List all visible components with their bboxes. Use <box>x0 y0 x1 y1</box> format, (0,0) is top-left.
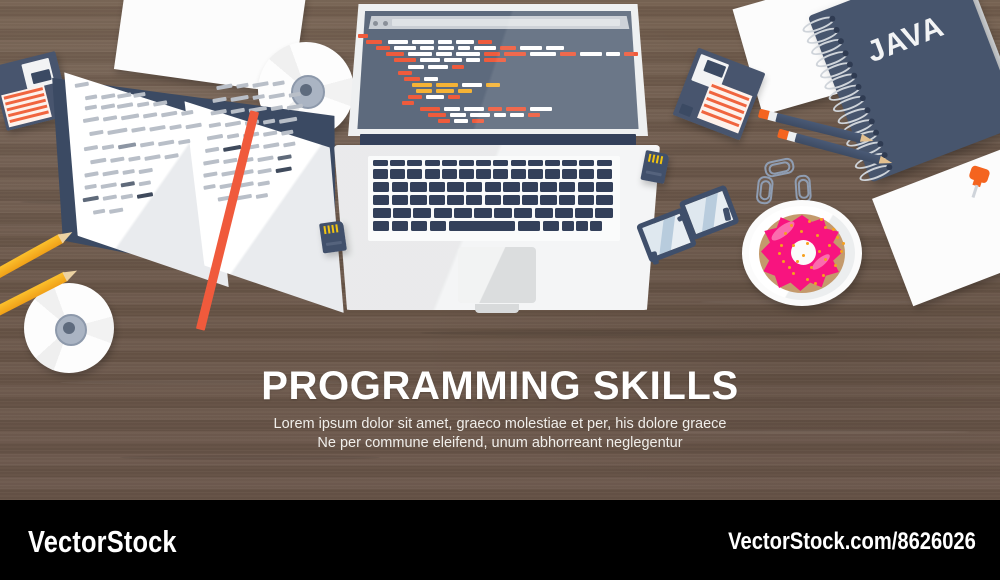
keyboard-key[interactable] <box>392 221 408 231</box>
code-token <box>444 58 462 62</box>
code-token <box>458 46 470 50</box>
donut-sprinkle <box>796 260 799 263</box>
keyboard-key[interactable] <box>447 195 463 205</box>
keyboard-key[interactable] <box>466 182 482 192</box>
paperclip-2 <box>756 175 770 200</box>
code-token <box>624 52 638 56</box>
donut-sprinkle <box>808 220 811 223</box>
page-title: PROGRAMMING SKILLS <box>0 364 1000 409</box>
code-token <box>488 107 502 111</box>
keyboard-key[interactable] <box>562 160 577 166</box>
keyboard-key[interactable] <box>392 195 408 205</box>
code-token <box>420 107 440 111</box>
code-token <box>500 46 516 50</box>
keyboard-key[interactable] <box>559 182 575 192</box>
code-token <box>412 40 434 44</box>
keyboard-key[interactable] <box>511 160 526 166</box>
book-text-line <box>205 147 219 153</box>
code-token <box>388 40 408 44</box>
code-token <box>454 119 468 123</box>
keyboard-key[interactable] <box>562 221 574 231</box>
keyboard-key[interactable] <box>476 160 491 166</box>
code-token <box>520 46 542 50</box>
book-text-line <box>203 184 216 190</box>
code-token <box>494 113 506 117</box>
keyboard-key[interactable] <box>459 169 474 179</box>
keyboard-key[interactable] <box>429 182 445 192</box>
keyboard-key[interactable] <box>447 182 463 192</box>
donut-sprinkle <box>792 272 795 275</box>
donut-sprinkle <box>806 278 809 281</box>
keyboard-key[interactable] <box>485 182 501 192</box>
book-text-line <box>216 83 232 90</box>
keyboard-key[interactable] <box>518 221 540 231</box>
keyboard-key[interactable] <box>392 182 408 192</box>
code-token <box>462 83 482 87</box>
keyboard-key[interactable] <box>503 182 519 192</box>
code-token <box>358 34 368 38</box>
code-token <box>438 119 450 123</box>
keyboard-key[interactable] <box>596 195 612 205</box>
keyboard-key[interactable] <box>449 221 515 231</box>
donut-sprinkle <box>836 236 839 239</box>
keyboard-key[interactable] <box>442 169 457 179</box>
code-token <box>408 95 422 99</box>
book-text-line <box>289 92 302 98</box>
code-token <box>444 107 460 111</box>
keyboard-key[interactable] <box>503 195 519 205</box>
code-token <box>386 52 404 56</box>
donut-sprinkle <box>806 242 809 245</box>
poster-canvas: JAVA <box>0 0 1000 580</box>
code-token <box>470 113 490 117</box>
keyboard-key[interactable] <box>493 169 508 179</box>
code-token <box>478 40 492 44</box>
keyboard-key[interactable] <box>410 182 426 192</box>
code-token <box>436 83 458 87</box>
keyboard-key[interactable] <box>413 208 431 218</box>
laptop-keyboard[interactable] <box>368 156 620 241</box>
laptop-trackpad[interactable] <box>458 247 536 303</box>
code-token <box>408 65 424 69</box>
code-token <box>484 58 506 62</box>
code-token <box>450 113 466 117</box>
keyboard-key[interactable] <box>522 182 538 192</box>
donut-sprinkle <box>832 228 835 231</box>
vectorstock-url[interactable]: VectorStock.com/8626026 <box>728 528 976 556</box>
subtitle-line-2: Ne per commune eleifend, unum abhorreant… <box>0 434 1000 453</box>
donut-sprinkle <box>840 250 843 253</box>
code-token <box>416 89 432 93</box>
code-token <box>456 52 480 56</box>
keyboard-key[interactable] <box>373 208 391 218</box>
keyboard-key[interactable] <box>411 221 427 231</box>
sd-card-left <box>319 220 347 253</box>
keyboard-key[interactable] <box>425 169 440 179</box>
keyboard-key[interactable] <box>545 169 560 179</box>
code-token <box>420 58 440 62</box>
donut-sprinkle <box>824 226 827 229</box>
donut-sprinkle <box>782 260 785 263</box>
keyboard-key[interactable] <box>535 208 553 218</box>
code-token <box>580 52 602 56</box>
code-token <box>438 46 454 50</box>
page-subtitle: Lorem ipsum dolor sit amet, graeco moles… <box>0 415 1000 453</box>
code-token <box>394 58 416 62</box>
code-token <box>546 46 564 50</box>
code-token <box>530 52 556 56</box>
code-token <box>458 89 472 93</box>
keyboard-key[interactable] <box>373 221 389 231</box>
donut-sprinkle <box>790 224 793 227</box>
book-text-line <box>203 171 217 177</box>
donut-sprinkle <box>818 250 821 253</box>
footer-bar: VectorStock VectorStock.com/8626026 <box>0 500 1000 580</box>
editor-address-bar[interactable] <box>392 19 620 26</box>
keyboard-key[interactable] <box>466 195 482 205</box>
keyboard-key[interactable] <box>476 169 491 179</box>
donut-sprinkles <box>742 200 862 306</box>
donut-sprinkle <box>784 232 787 235</box>
code-token <box>412 83 432 87</box>
keyboard-key[interactable] <box>373 169 388 179</box>
keyboard-key[interactable] <box>373 160 388 166</box>
book-text-line <box>203 159 219 166</box>
vectorstock-logo[interactable]: VectorStock <box>28 524 177 560</box>
keyboard-key[interactable] <box>528 169 543 179</box>
keyboard-key[interactable] <box>559 195 575 205</box>
keyboard-key[interactable] <box>579 160 594 166</box>
code-token <box>456 40 474 44</box>
book-text-line <box>287 104 303 111</box>
donut-sprinkle <box>802 254 805 257</box>
open-book <box>55 48 350 318</box>
keyboard-key[interactable] <box>430 221 446 231</box>
book-text-line <box>252 94 265 100</box>
keyboard-key[interactable] <box>543 221 559 231</box>
book-text-line <box>207 134 223 141</box>
code-token <box>606 52 620 56</box>
book-text-line <box>210 109 226 116</box>
keyboard-key[interactable] <box>514 208 532 218</box>
code-token <box>452 65 464 69</box>
book-text-line <box>236 83 249 89</box>
keyboard-key[interactable] <box>540 182 556 192</box>
code-token <box>506 107 526 111</box>
donut-sprinkle <box>780 244 783 247</box>
keyboard-key[interactable] <box>494 208 512 218</box>
keyboard-key[interactable] <box>576 221 588 231</box>
code-token <box>474 46 496 50</box>
keyboard-key[interactable] <box>373 182 389 192</box>
keyboard-key[interactable] <box>407 169 422 179</box>
keyboard-key[interactable] <box>425 160 440 166</box>
keyboard-key[interactable] <box>578 195 594 205</box>
code-token <box>402 101 414 105</box>
book-text-line <box>252 81 268 88</box>
keyboard-key[interactable] <box>578 182 594 192</box>
donut-sprinkle <box>822 274 825 277</box>
donut-sprinkle <box>778 252 781 255</box>
code-token <box>408 52 432 56</box>
code-token <box>436 52 452 56</box>
book-text-line <box>230 95 248 102</box>
code-token <box>376 46 390 50</box>
keyboard-key[interactable] <box>597 160 612 166</box>
donut-sprinkle <box>800 230 803 233</box>
code-token <box>486 83 500 87</box>
keyboard-key[interactable] <box>407 160 422 166</box>
code-token <box>428 65 448 69</box>
donut-sprinkle <box>820 218 823 221</box>
keyboard-key[interactable] <box>442 160 457 166</box>
keyboard-key[interactable] <box>410 195 426 205</box>
code-token <box>436 89 454 93</box>
donut-sprinkle <box>828 244 831 247</box>
code-editor-content <box>358 34 638 126</box>
keyboard-key[interactable] <box>522 195 538 205</box>
donut-sprinkle <box>834 264 837 267</box>
book-text-line <box>269 93 285 100</box>
keyboard-key[interactable] <box>595 208 613 218</box>
code-token <box>424 77 438 81</box>
code-token <box>484 52 500 56</box>
keyboard-key[interactable] <box>562 169 577 179</box>
keyboard-key[interactable] <box>511 169 526 179</box>
donut-sprinkle <box>816 234 819 237</box>
code-token <box>404 77 420 81</box>
donut-sprinkle <box>842 242 845 245</box>
donut-plate <box>742 200 862 306</box>
laptop[interactable] <box>330 4 660 314</box>
donut-sprinkle <box>814 282 817 285</box>
code-token <box>394 46 416 50</box>
keyboard-key[interactable] <box>390 169 405 179</box>
keyboard-key[interactable] <box>540 195 556 205</box>
keyboard-key[interactable] <box>429 195 445 205</box>
code-token <box>448 95 460 99</box>
donut-sprinkle <box>788 266 791 269</box>
code-token <box>366 40 382 44</box>
code-token <box>504 52 526 56</box>
keyboard-key[interactable] <box>596 182 612 192</box>
code-token <box>398 71 412 75</box>
keyboard-key[interactable] <box>493 160 508 166</box>
code-token <box>530 107 552 111</box>
book-text-line <box>209 122 222 128</box>
code-token <box>510 113 524 117</box>
keyboard-key[interactable] <box>575 208 593 218</box>
keyboard-key[interactable] <box>393 208 411 218</box>
code-token <box>426 95 444 99</box>
keyboard-key[interactable] <box>459 160 474 166</box>
keyboard-key[interactable] <box>590 221 602 231</box>
code-token <box>438 40 452 44</box>
keyboard-key[interactable] <box>555 208 573 218</box>
donut-sprinkle <box>810 266 813 269</box>
keyboard-key[interactable] <box>528 160 543 166</box>
keyboard-key[interactable] <box>545 160 560 166</box>
keyboard-key[interactable] <box>579 169 594 179</box>
keyboard-key[interactable] <box>390 160 405 166</box>
code-token <box>464 107 484 111</box>
paperclip-3 <box>794 175 808 200</box>
code-token <box>560 52 576 56</box>
keyboard-key[interactable] <box>434 208 452 218</box>
code-token <box>528 113 540 117</box>
subtitle-line-1: Lorem ipsum dolor sit amet, graeco moles… <box>0 415 1000 434</box>
keyboard-key[interactable] <box>474 208 492 218</box>
keyboard-key[interactable] <box>597 169 612 179</box>
code-token <box>466 58 480 62</box>
code-token <box>420 46 434 50</box>
donut-sprinkle <box>792 244 795 247</box>
code-token <box>428 113 446 117</box>
laptop-front-notch <box>475 304 519 313</box>
keyboard-key[interactable] <box>485 195 501 205</box>
keyboard-key[interactable] <box>373 195 389 205</box>
code-token <box>472 119 484 123</box>
keyboard-key[interactable] <box>454 208 472 218</box>
donut-sprinkle <box>824 258 827 261</box>
book-text-line <box>272 80 285 86</box>
